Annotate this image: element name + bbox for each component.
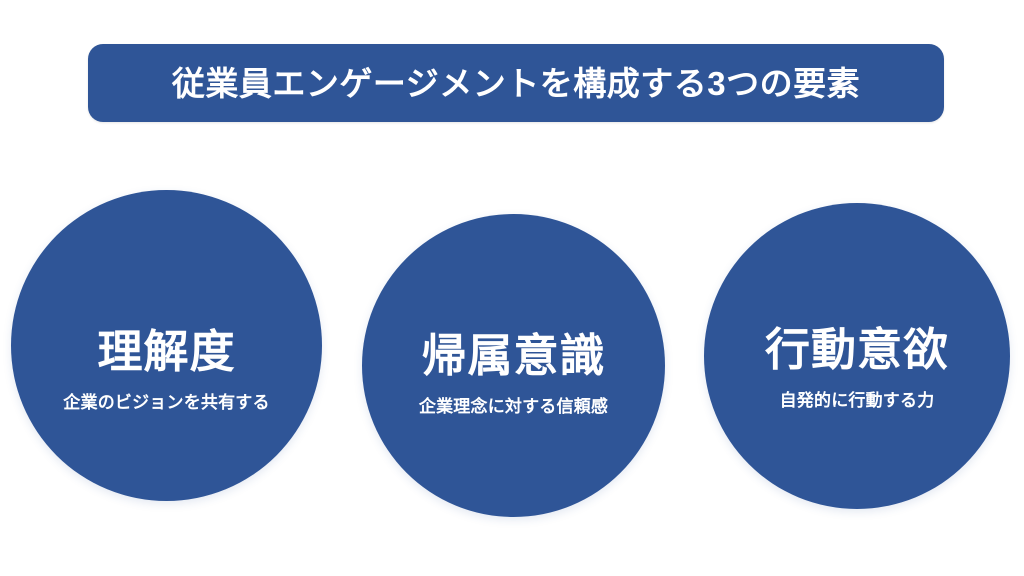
title-banner: 従業員エンゲージメントを構成する3つの要素 [88, 44, 944, 122]
slide-canvas: 従業員エンゲージメントを構成する3つの要素 理解度 企業のビジョンを共有する 帰… [0, 0, 1024, 576]
circle-subtitle: 企業のビジョンを共有する [63, 393, 269, 413]
circle-subtitle: 企業理念に対する信頼感 [419, 397, 608, 417]
circle-content: 帰属意識 企業理念に対する信頼感 [362, 332, 665, 418]
element-circle-belonging[interactable]: 帰属意識 企業理念に対する信頼感 [362, 214, 665, 517]
circle-heading: 行動意欲 [765, 326, 949, 373]
element-circle-understanding[interactable]: 理解度 企業のビジョンを共有する [11, 190, 322, 501]
circle-content: 理解度 企業のビジョンを共有する [11, 328, 322, 414]
element-circle-motivation[interactable]: 行動意欲 自発的に行動する力 [704, 203, 1010, 509]
circle-content: 行動意欲 自発的に行動する力 [704, 326, 1010, 412]
circle-subtitle: 自発的に行動する力 [780, 391, 935, 411]
circle-heading: 理解度 [97, 328, 235, 375]
circle-heading: 帰属意識 [421, 332, 605, 379]
page-title: 従業員エンゲージメントを構成する3つの要素 [172, 67, 860, 100]
